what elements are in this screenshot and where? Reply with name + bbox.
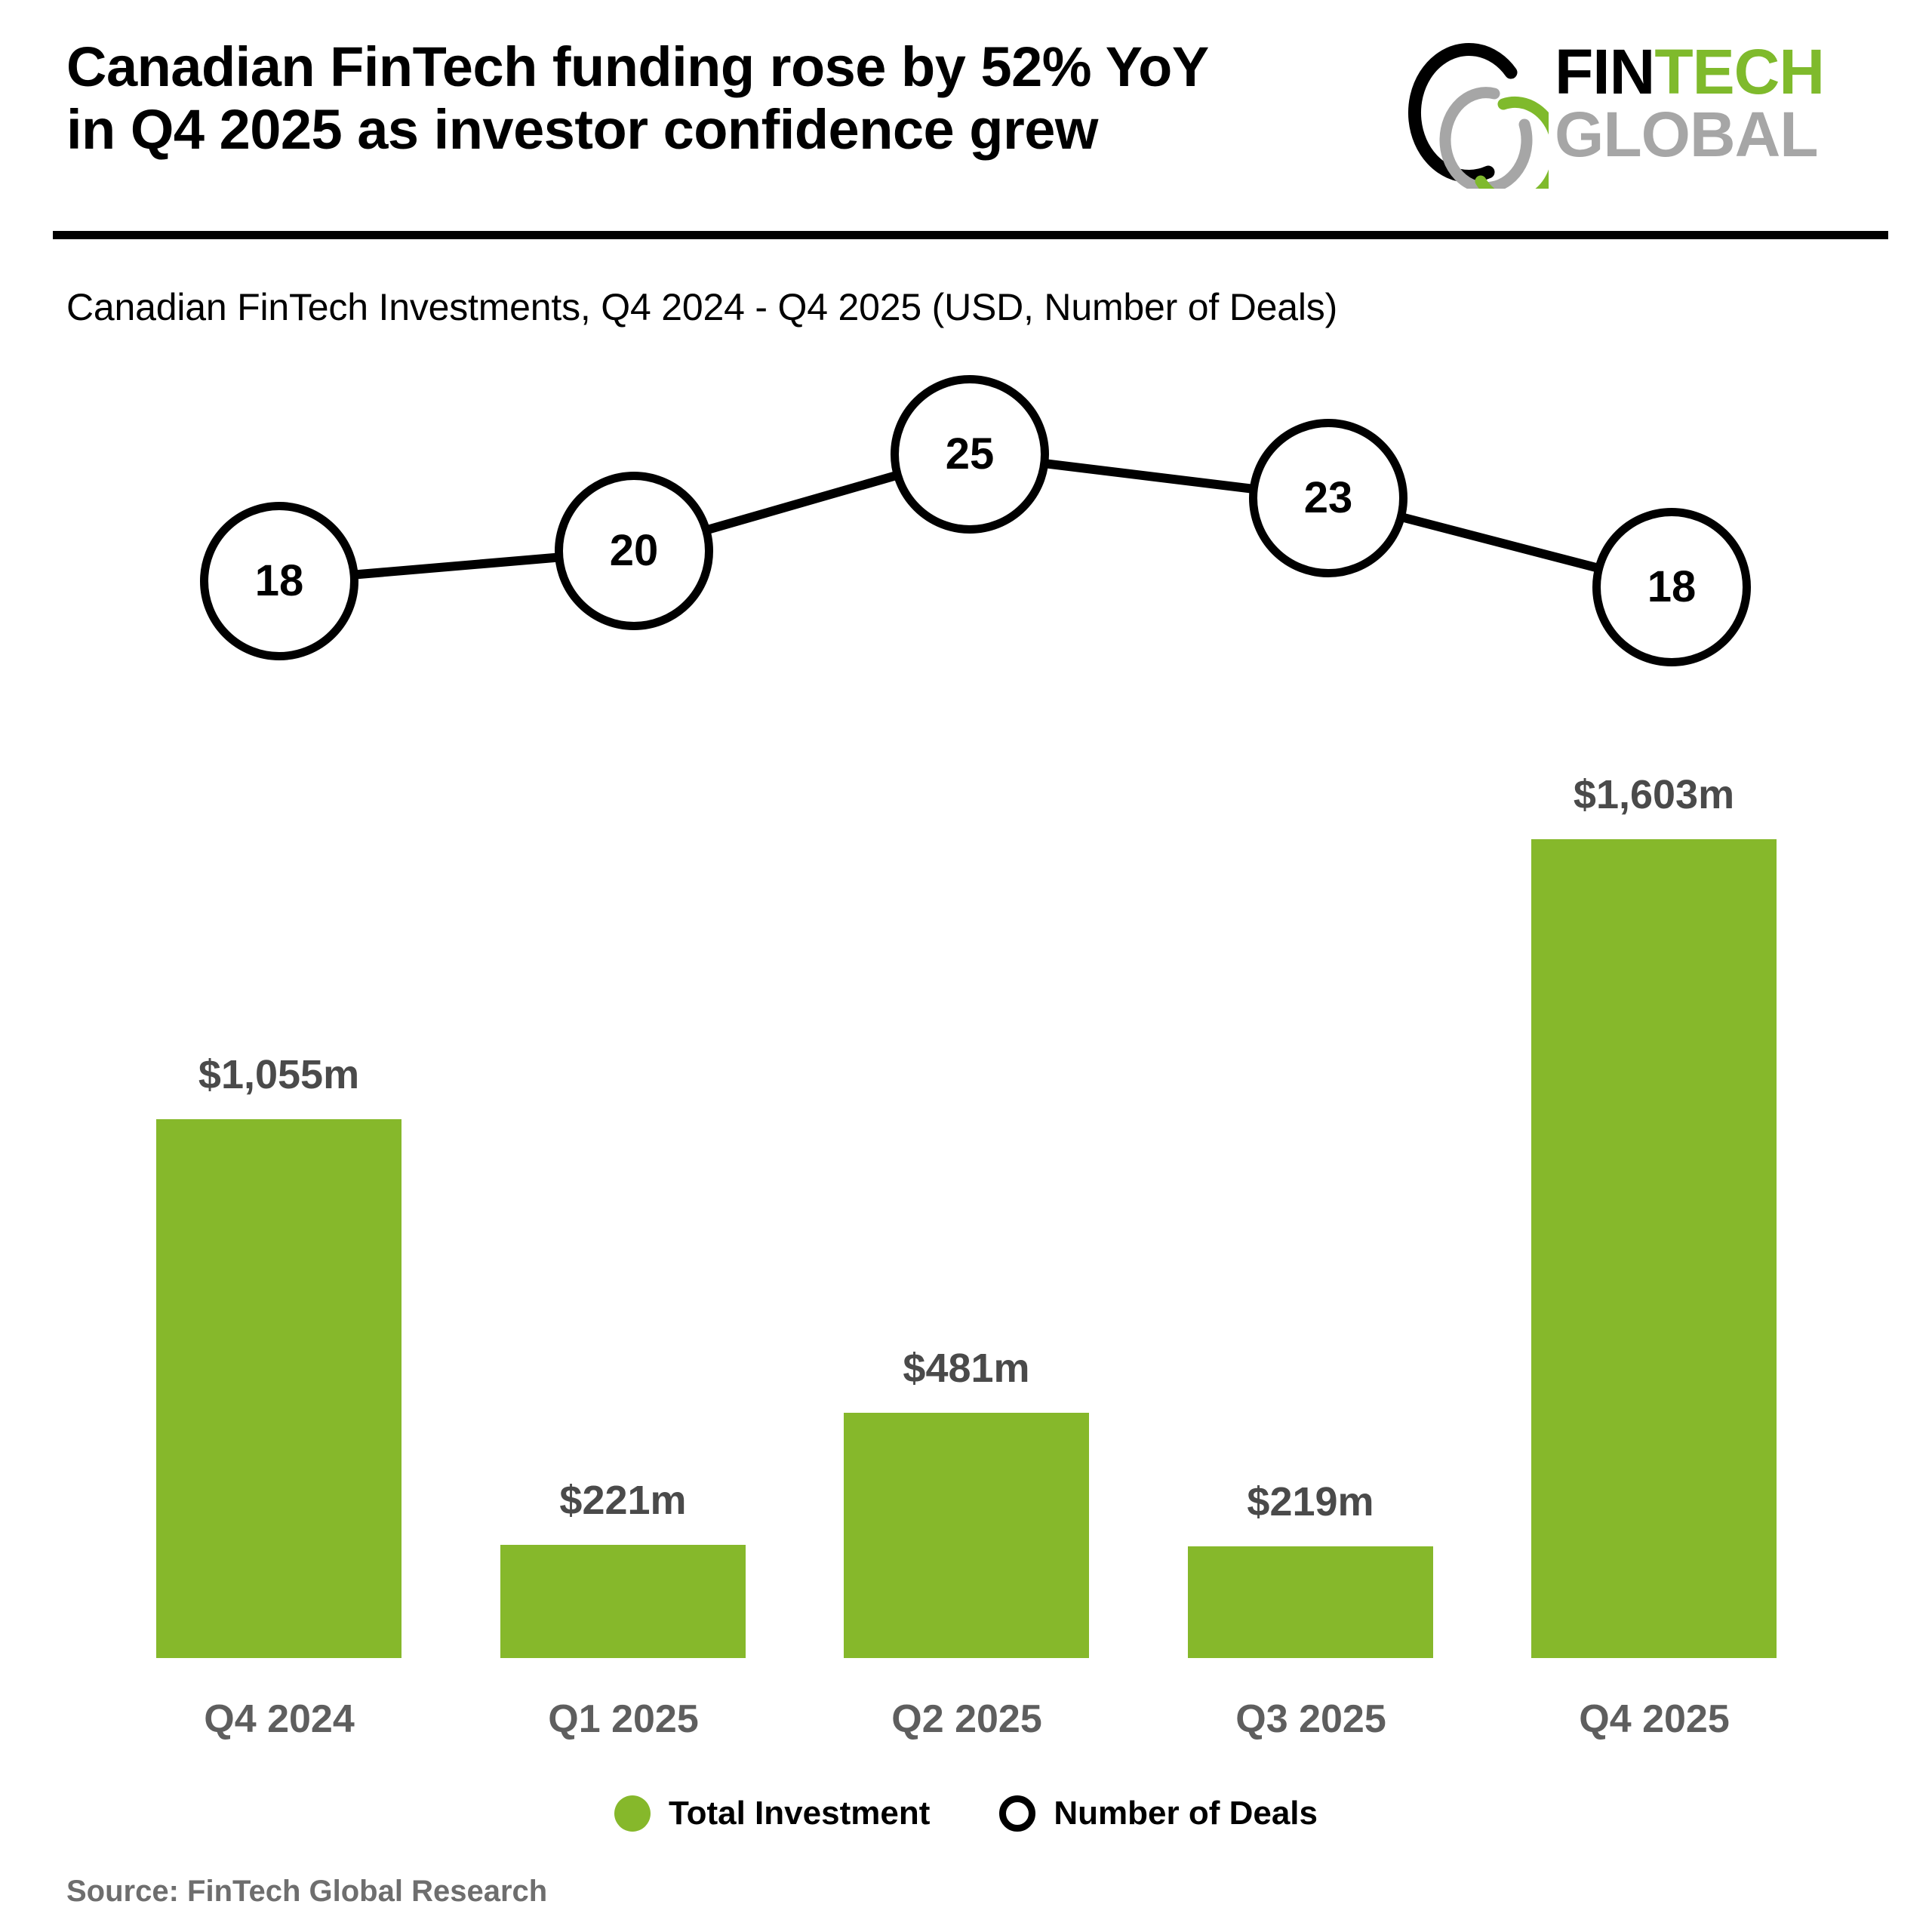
legend-filled-circle-icon <box>614 1795 651 1832</box>
logo-word-tech: TECH <box>1654 36 1824 107</box>
deal-node-value: 23 <box>1304 476 1353 520</box>
bar-value-label: $1,603m <box>1531 771 1777 818</box>
bar-value-label: $221m <box>500 1477 746 1524</box>
header-divider <box>53 231 1888 239</box>
chart-page: Canadian FinTech funding rose by 52% YoY… <box>0 0 1932 1932</box>
deal-node: 18 <box>200 502 358 660</box>
deal-node-value: 20 <box>610 529 659 573</box>
bar-q2-2025 <box>844 1413 1089 1658</box>
deal-node-value: 18 <box>1647 565 1697 609</box>
deal-node-value: 25 <box>946 432 995 476</box>
deal-node: 25 <box>891 375 1049 534</box>
x-axis-label: Q1 2025 <box>491 1697 755 1742</box>
logo-line-fintech: FINTECH <box>1555 41 1909 103</box>
bar-value-label: $219m <box>1188 1478 1433 1525</box>
bar-value-label: $1,055m <box>156 1051 401 1098</box>
legend-label: Total Investment <box>669 1795 930 1832</box>
deal-node-value: 18 <box>255 559 304 603</box>
legend-hollow-circle-icon <box>999 1795 1035 1832</box>
fintech-global-ring-logo-icon <box>1398 38 1549 189</box>
x-axis-label: Q3 2025 <box>1179 1697 1443 1742</box>
legend-item-number-of-deals: Number of Deals <box>999 1795 1318 1832</box>
brand-logo: FINTECH GLOBAL <box>1398 30 1911 192</box>
logo-word-fin: FIN <box>1555 36 1654 107</box>
bar-q4-2024 <box>156 1119 401 1658</box>
deal-node: 20 <box>555 472 713 630</box>
x-axis-label: Q2 2025 <box>835 1697 1099 1742</box>
chart-legend: Total Investment Number of Deals <box>0 1795 1932 1832</box>
chart-subtitle: Canadian FinTech Investments, Q4 2024 - … <box>66 285 1337 329</box>
bar-q1-2025 <box>500 1545 746 1658</box>
legend-label: Number of Deals <box>1054 1795 1318 1832</box>
x-axis-label: Q4 2025 <box>1522 1697 1786 1742</box>
deal-node: 23 <box>1249 419 1407 577</box>
bar-value-label: $481m <box>844 1345 1089 1392</box>
x-axis-label: Q4 2024 <box>147 1697 411 1742</box>
brand-logo-text: FINTECH GLOBAL <box>1555 41 1909 166</box>
legend-item-total-investment: Total Investment <box>614 1795 930 1832</box>
bar-q4-2025 <box>1531 839 1777 1658</box>
bar-q3-2025 <box>1188 1546 1433 1658</box>
deal-node: 18 <box>1592 508 1751 666</box>
page-title: Canadian FinTech funding rose by 52% YoY… <box>66 36 1395 162</box>
logo-word-global: GLOBAL <box>1555 103 1909 166</box>
source-note: Source: FinTech Global Research <box>66 1875 547 1909</box>
